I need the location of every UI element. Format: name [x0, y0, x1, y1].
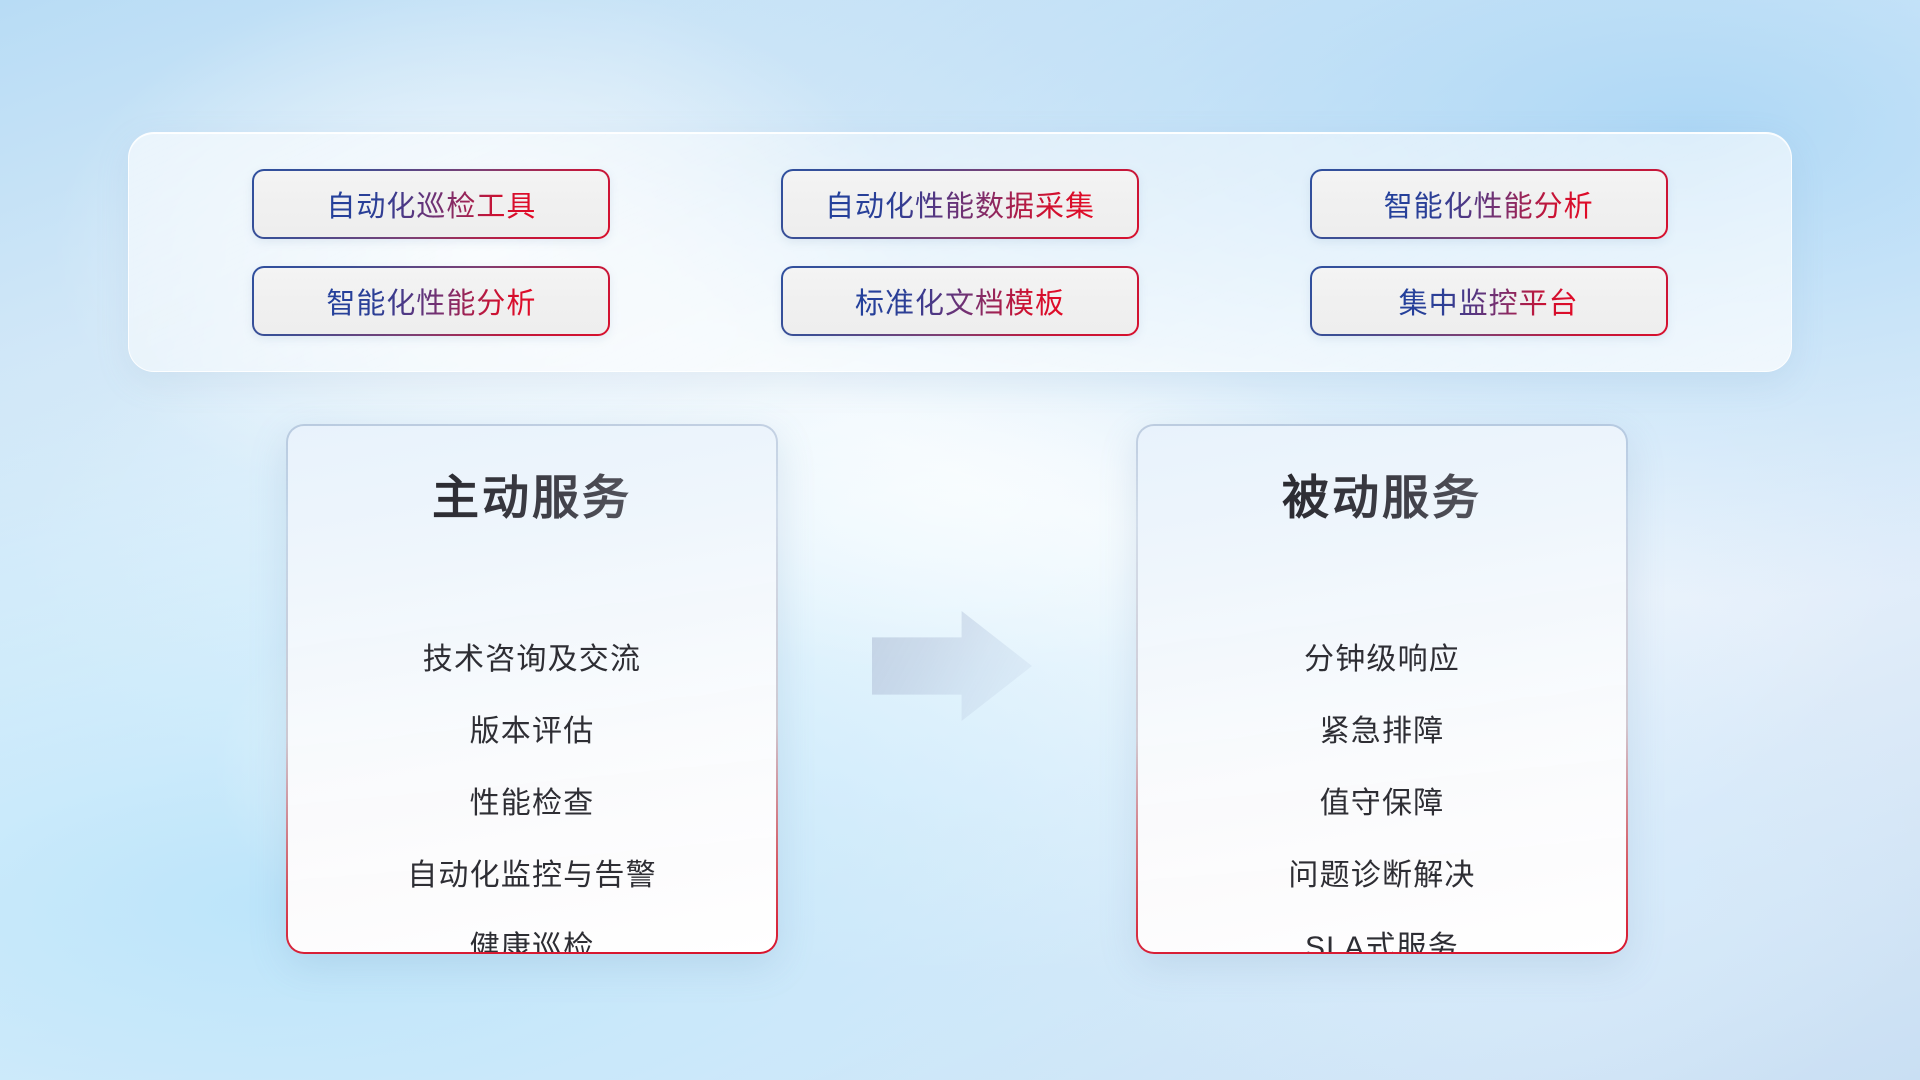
list-item: 值守保障 [1320, 768, 1445, 840]
service-card-passive: 被动服务 分钟级响应 紧急排障 值守保障 问题诊断解决 SLA式服务 [1136, 424, 1628, 954]
capability-pill[interactable]: 自动化巡检工具 [252, 169, 610, 239]
capability-pill-label: 集中监控平台 [1399, 280, 1579, 322]
capability-pill[interactable]: 智能化性能分析 [252, 266, 610, 336]
capability-pill-surface: 智能化性能分析 [254, 268, 608, 334]
list-item: SLA式服务 [1305, 912, 1459, 952]
service-card-surface: 主动服务 技术咨询及交流 版本评估 性能检查 自动化监控与告警 健康巡检 [288, 426, 776, 952]
capability-pill-label: 标准化文档模板 [855, 280, 1065, 322]
list-item: 问题诊断解决 [1288, 840, 1475, 912]
list-item: 技术咨询及交流 [423, 624, 641, 696]
capability-pill[interactable]: 自动化性能数据采集 [781, 169, 1139, 239]
capability-pill-surface: 标准化文档模板 [783, 268, 1137, 334]
list-item: 健康巡检 [470, 912, 595, 952]
list-item: 性能检查 [470, 768, 595, 840]
service-card-surface: 被动服务 分钟级响应 紧急排障 值守保障 问题诊断解决 SLA式服务 [1138, 426, 1626, 952]
service-item-list: 分钟级响应 紧急排障 值守保障 问题诊断解决 SLA式服务 [1172, 624, 1592, 952]
list-item: 分钟级响应 [1304, 624, 1460, 696]
capability-pill-label: 智能化性能分析 [326, 280, 536, 322]
service-card-title: 主动服务 [432, 470, 632, 526]
service-item-list: 技术咨询及交流 版本评估 性能检查 自动化监控与告警 健康巡检 [322, 624, 742, 952]
capability-pill-surface: 智能化性能分析 [1312, 171, 1666, 237]
service-card-active: 主动服务 技术咨询及交流 版本评估 性能检查 自动化监控与告警 健康巡检 [286, 424, 778, 954]
list-item: 紧急排障 [1320, 696, 1445, 768]
capability-pill[interactable]: 智能化性能分析 [1310, 169, 1668, 239]
service-card-title: 被动服务 [1282, 470, 1482, 526]
capability-pill[interactable]: 标准化文档模板 [781, 266, 1139, 336]
capability-pill-label: 自动化巡检工具 [326, 183, 536, 225]
capabilities-panel: 自动化巡检工具 自动化性能数据采集 智能化性能分析 智能化性能分析 标准化文档模… [128, 132, 1792, 372]
capability-pill[interactable]: 集中监控平台 [1310, 266, 1668, 336]
capability-pill-label: 智能化性能分析 [1384, 183, 1594, 225]
capability-pill-surface: 集中监控平台 [1312, 268, 1666, 334]
list-item: 自动化监控与告警 [407, 840, 657, 912]
capability-pill-surface: 自动化巡检工具 [254, 171, 608, 237]
capability-pill-surface: 自动化性能数据采集 [783, 171, 1137, 237]
capability-pill-label: 自动化性能数据采集 [825, 183, 1095, 225]
list-item: 版本评估 [470, 696, 595, 768]
